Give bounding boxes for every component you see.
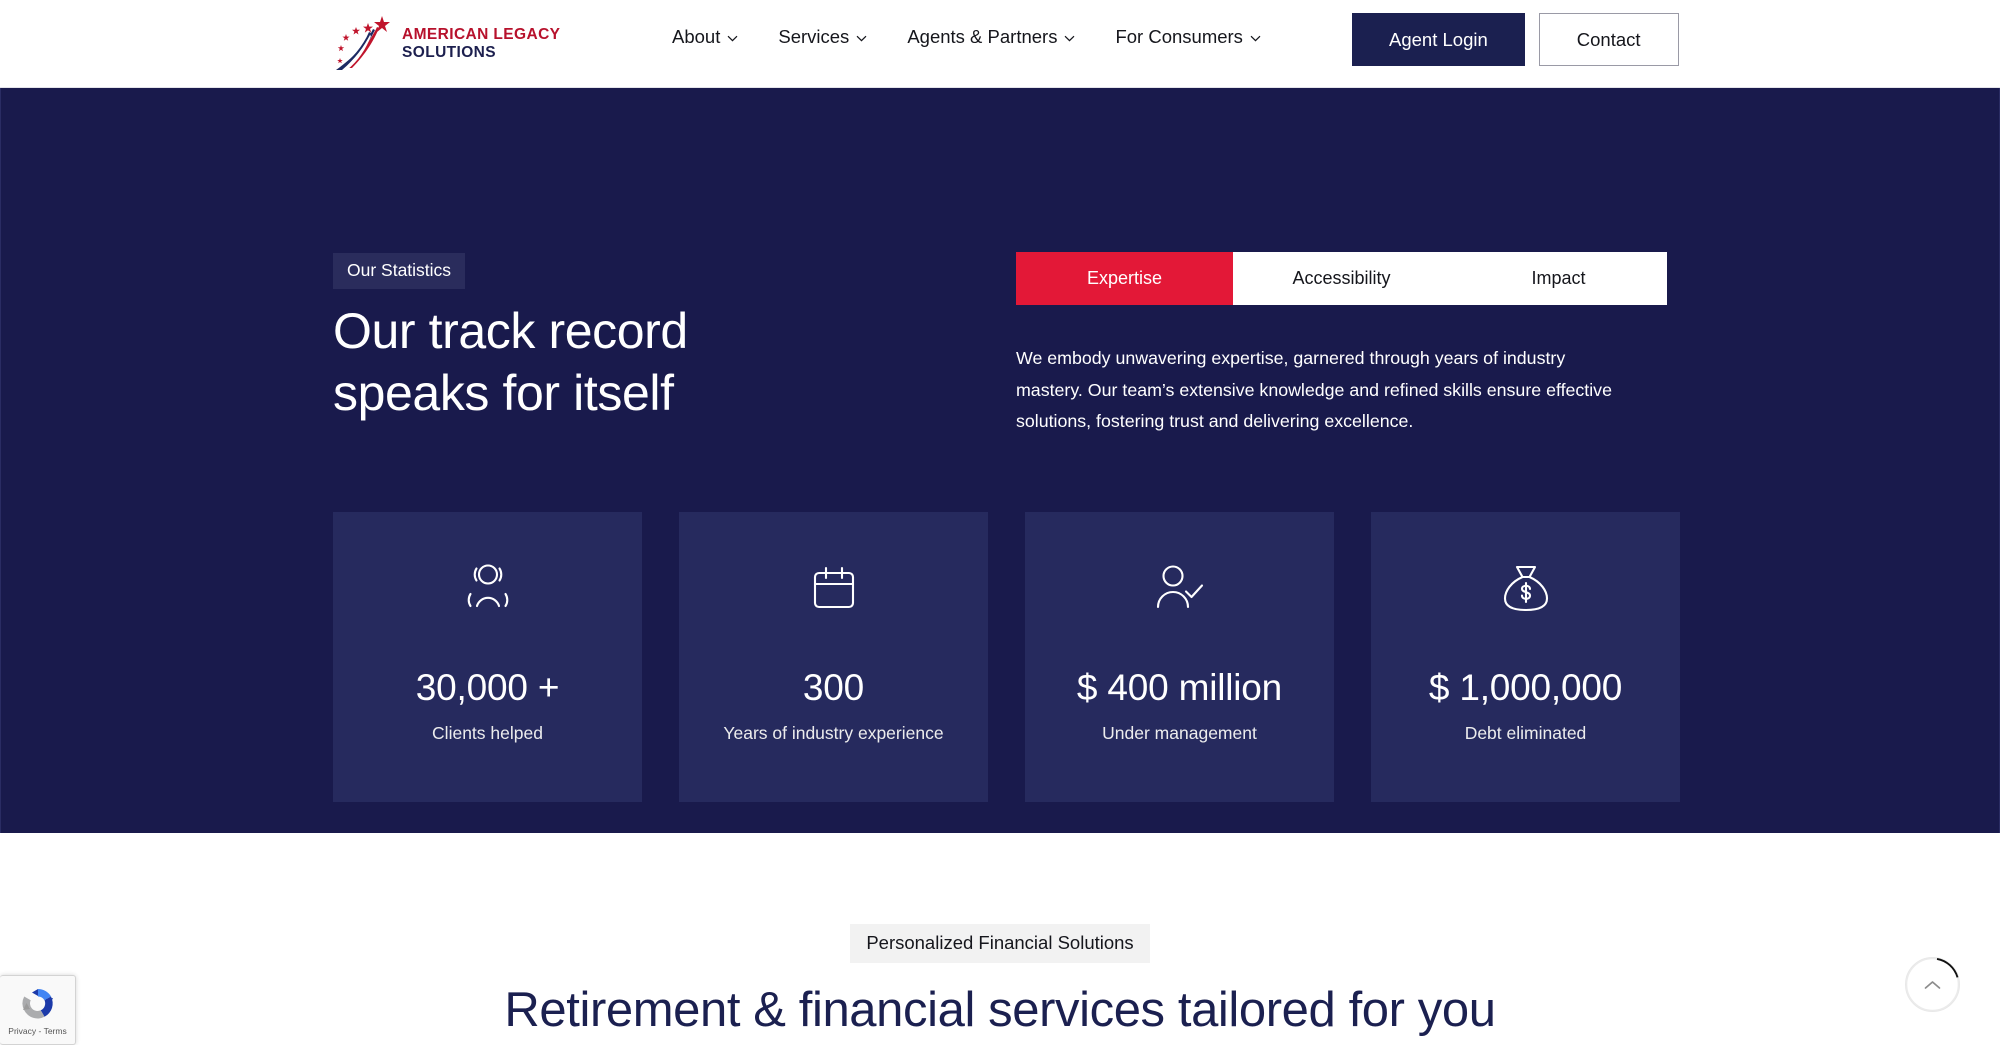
stat-label: Clients helped xyxy=(432,723,543,744)
header-actions: Agent Login Contact xyxy=(1352,13,1679,66)
nav-item-label: For Consumers xyxy=(1115,26,1242,48)
services-eyebrow-badge: Personalized Financial Solutions xyxy=(850,924,1149,963)
stat-card-years-experience: 300 Years of industry experience xyxy=(679,512,988,802)
contact-button[interactable]: Contact xyxy=(1539,13,1679,66)
nav-item-about[interactable]: About xyxy=(672,26,738,48)
chevron-down-icon xyxy=(727,32,738,42)
services-intro-section: Personalized Financial Solutions Retirem… xyxy=(0,833,2000,1045)
stat-card-debt-eliminated: $ 1,000,000 Debt eliminated xyxy=(1371,512,1680,802)
services-headline: Retirement & financial services tailored… xyxy=(0,984,2000,1038)
tab-impact[interactable]: Impact xyxy=(1450,252,1667,305)
scroll-progress-ring xyxy=(1905,957,1960,1012)
tab-accessibility[interactable]: Accessibility xyxy=(1233,252,1450,305)
nav-item-label: Agents & Partners xyxy=(907,26,1057,48)
nav-item-label: Services xyxy=(778,26,849,48)
stat-value: $ 1,000,000 xyxy=(1429,667,1622,709)
recaptcha-logo-icon xyxy=(18,984,58,1024)
statistics-headline: Our track record speaks for itself xyxy=(333,300,853,424)
user-check-icon xyxy=(1149,512,1211,619)
tab-panel-description: We embody unwavering expertise, garnered… xyxy=(1016,343,1631,438)
chevron-down-icon xyxy=(1250,32,1261,42)
people-group-icon xyxy=(457,512,519,619)
stat-value: 300 xyxy=(803,667,864,709)
chevron-down-icon xyxy=(856,32,867,42)
recaptcha-badge[interactable]: Privacy - Terms xyxy=(0,975,76,1045)
statistics-card-grid: 30,000 + Clients helped 300 Years of ind… xyxy=(333,512,1680,802)
calendar-icon xyxy=(803,512,865,619)
site-logo[interactable]: AMERICAN LEGACY SOLUTIONS xyxy=(330,14,560,74)
statistics-eyebrow-badge: Our Statistics xyxy=(333,253,465,289)
stat-value: $ 400 million xyxy=(1077,667,1282,709)
nav-item-label: About xyxy=(672,26,720,48)
stat-label: Under management xyxy=(1102,723,1257,744)
logo-line-2: SOLUTIONS xyxy=(402,44,560,62)
american-flag-swoosh-logo-icon xyxy=(330,14,392,74)
nav-item-for-consumers[interactable]: For Consumers xyxy=(1115,26,1260,48)
stat-label: Debt eliminated xyxy=(1465,723,1587,744)
stat-card-under-management: $ 400 million Under management xyxy=(1025,512,1334,802)
chevron-down-icon xyxy=(1064,32,1075,42)
statistics-section: Our Statistics Our track record speaks f… xyxy=(0,88,2000,833)
nav-item-services[interactable]: Services xyxy=(778,26,867,48)
main-navigation: About Services Agents & Partners For Con… xyxy=(672,26,1261,48)
agent-login-button[interactable]: Agent Login xyxy=(1352,13,1525,66)
stat-card-clients-helped: 30,000 + Clients helped xyxy=(333,512,642,802)
stat-value: 30,000 + xyxy=(416,667,559,709)
site-header: AMERICAN LEGACY SOLUTIONS About Services… xyxy=(0,0,2000,88)
stat-label: Years of industry experience xyxy=(723,723,943,744)
statistics-tablist: Expertise Accessibility Impact xyxy=(1016,252,1667,305)
scroll-to-top-button[interactable] xyxy=(1905,957,1960,1012)
logo-line-1: AMERICAN LEGACY xyxy=(402,26,560,44)
recaptcha-privacy-terms-label[interactable]: Privacy - Terms xyxy=(8,1026,66,1036)
money-bag-icon xyxy=(1495,512,1557,619)
nav-item-agents-partners[interactable]: Agents & Partners xyxy=(907,26,1075,48)
logo-wordmark: AMERICAN LEGACY SOLUTIONS xyxy=(402,26,560,63)
tab-expertise[interactable]: Expertise xyxy=(1016,252,1233,305)
